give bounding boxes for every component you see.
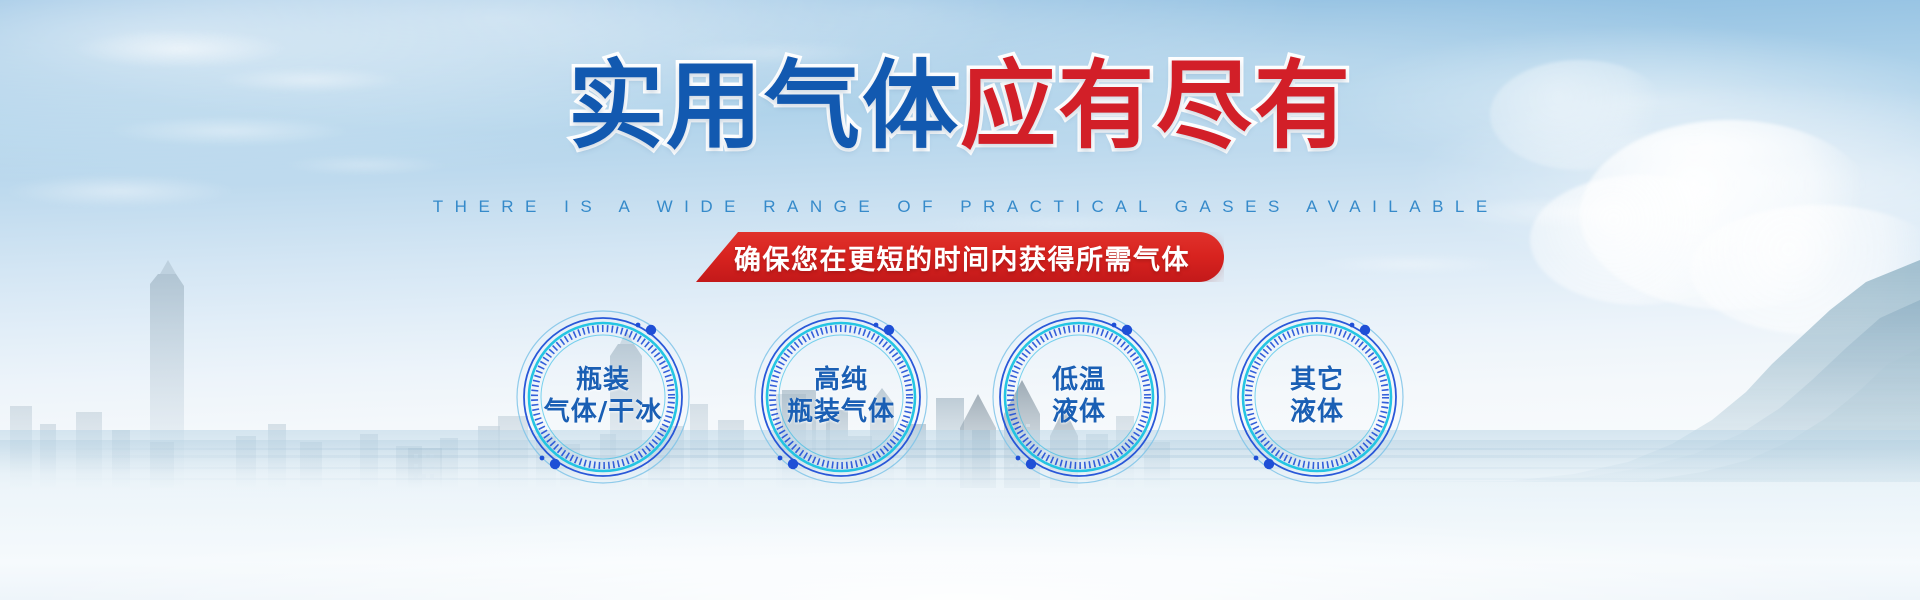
headline-blue-text: 实用气体 [568,56,960,157]
category-label-line2: 瓶装气体 [787,397,895,429]
category-label-line1: 高纯 [787,365,895,397]
headline-red-text: 应有尽有 [960,56,1352,157]
category-label-line1: 瓶装 [544,365,663,397]
water-glow [0,470,1920,600]
category-label: 高纯 瓶装气体 [787,365,895,428]
headline: 实用气体应有尽有 [0,56,1920,157]
category-label: 其它 液体 [1290,365,1344,428]
category-circle-cryogenic-liquid[interactable]: 低温 液体 [990,308,1168,486]
category-circle-other-liquid[interactable]: 其它 液体 [1228,308,1406,486]
category-label-line2: 液体 [1052,397,1106,429]
ribbon-container: 确保您在更短的时间内获得所需气体 [0,232,1920,282]
category-label-line2: 气体/干冰 [544,397,663,429]
category-circle-row: 瓶装 气体/干冰 高纯 瓶装气体 [0,308,1920,486]
category-label-line2: 液体 [1290,397,1344,429]
category-circle-bottled-gas-dry-ice[interactable]: 瓶装 气体/干冰 [514,308,692,486]
category-label: 低温 液体 [1052,365,1106,428]
category-label-line1: 低温 [1052,365,1106,397]
category-circle-high-purity-bottled-gas[interactable]: 高纯 瓶装气体 [752,308,930,486]
headline-subtitle-english: THERE IS A WIDE RANGE OF PRACTICAL GASES… [0,197,1920,217]
hero-banner: 实用气体应有尽有 THERE IS A WIDE RANGE OF PRACTI… [0,0,1920,600]
tagline-text: 确保您在更短的时间内获得所需气体 [734,238,1190,277]
category-label: 瓶装 气体/干冰 [544,365,663,428]
category-label-line1: 其它 [1290,365,1344,397]
tagline-ribbon: 确保您在更短的时间内获得所需气体 [696,232,1224,282]
